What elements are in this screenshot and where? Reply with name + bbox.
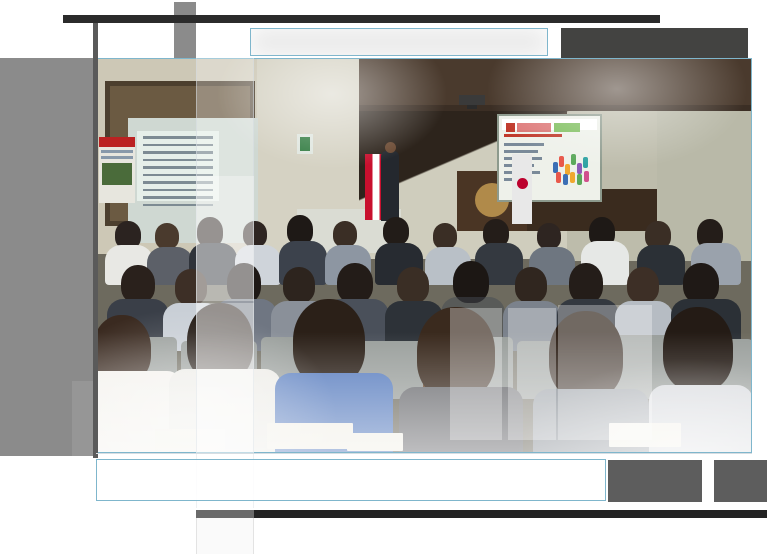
- bottom-bar-segment: [196, 510, 254, 518]
- toolbar-action-button[interactable]: [561, 28, 748, 58]
- ceiling-dark: [359, 59, 752, 111]
- overlay-panel: [450, 308, 502, 440]
- slide-body-line: [504, 150, 538, 153]
- footer-input[interactable]: [96, 459, 606, 501]
- footer-primary-button[interactable]: [608, 460, 702, 502]
- app-window: [0, 0, 767, 554]
- sidebar-divider: [93, 15, 98, 458]
- slide-header-bar: [517, 123, 551, 132]
- slide-figure: [551, 152, 595, 186]
- slide-body-line: [504, 143, 544, 146]
- slide-title-line: [504, 134, 562, 137]
- overlay-panel: [558, 305, 652, 440]
- top-toolbar: [63, 15, 660, 23]
- slide-header: [502, 119, 597, 130]
- toolbar-handle[interactable]: [174, 2, 196, 58]
- content-photo: [96, 58, 752, 453]
- search-input[interactable]: [250, 28, 548, 56]
- bottom-bar: [196, 510, 767, 518]
- content-bottom-rule: [96, 453, 752, 454]
- overlay-panel: [196, 176, 254, 301]
- overlay-panel: [508, 308, 556, 440]
- slide-logo-icon: [506, 123, 515, 132]
- left-sidebar-panel[interactable]: [0, 58, 96, 456]
- projector: [459, 95, 485, 105]
- footer-secondary-button[interactable]: [714, 460, 767, 502]
- exit-sign-icon: [297, 134, 313, 154]
- slide-header-accent: [554, 123, 580, 132]
- overlay-column-footer: [196, 518, 254, 554]
- wall-poster: [99, 137, 135, 203]
